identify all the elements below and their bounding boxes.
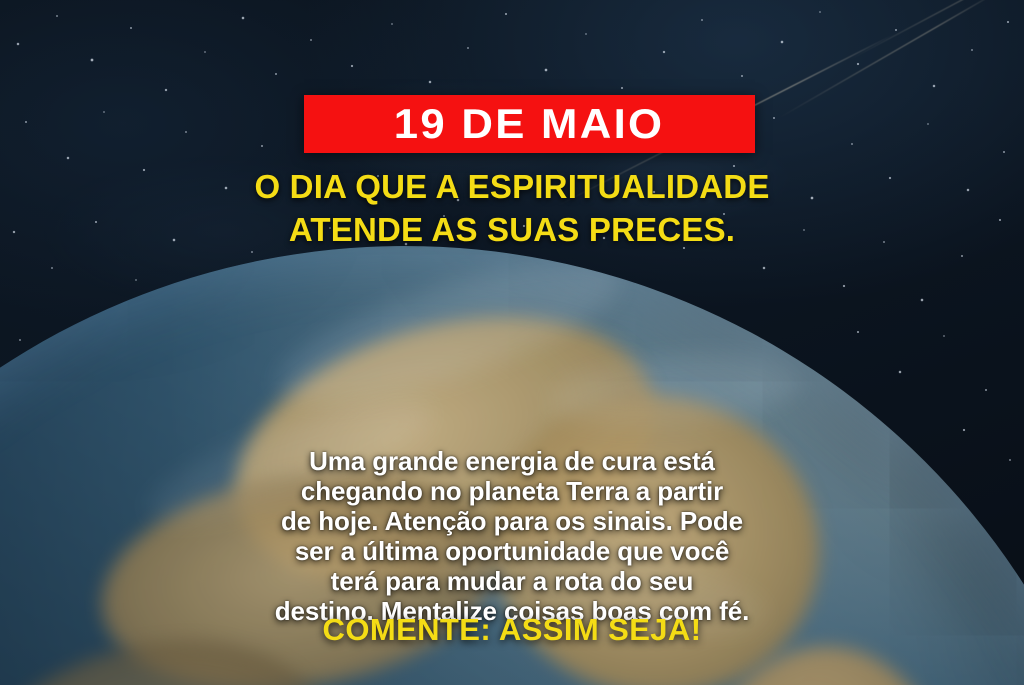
call-to-action-text: COMENTE: ASSIM SEJA! bbox=[0, 612, 1024, 648]
body-line-2: chegando no planeta Terra a partir bbox=[52, 476, 972, 506]
date-banner: 19 DE MAIO bbox=[304, 95, 755, 153]
date-banner-label: 19 DE MAIO bbox=[394, 103, 664, 145]
body-line-3: de hoje. Atenção para os sinais. Pode bbox=[52, 506, 972, 536]
poster-canvas: 19 DE MAIO O DIA QUE A ESPIRITUALIDADE A… bbox=[0, 0, 1024, 685]
headline-line-1: O DIA QUE A ESPIRITUALIDADE bbox=[0, 166, 1024, 209]
body-paragraph: Uma grande energia de cura está chegando… bbox=[52, 446, 972, 626]
headline-line-2: ATENDE AS SUAS PRECES. bbox=[0, 209, 1024, 252]
body-line-4: ser a última oportunidade que você bbox=[52, 536, 972, 566]
headline: O DIA QUE A ESPIRITUALIDADE ATENDE AS SU… bbox=[0, 166, 1024, 252]
body-line-1: Uma grande energia de cura está bbox=[52, 446, 972, 476]
body-line-5: terá para mudar a rota do seu bbox=[52, 566, 972, 596]
